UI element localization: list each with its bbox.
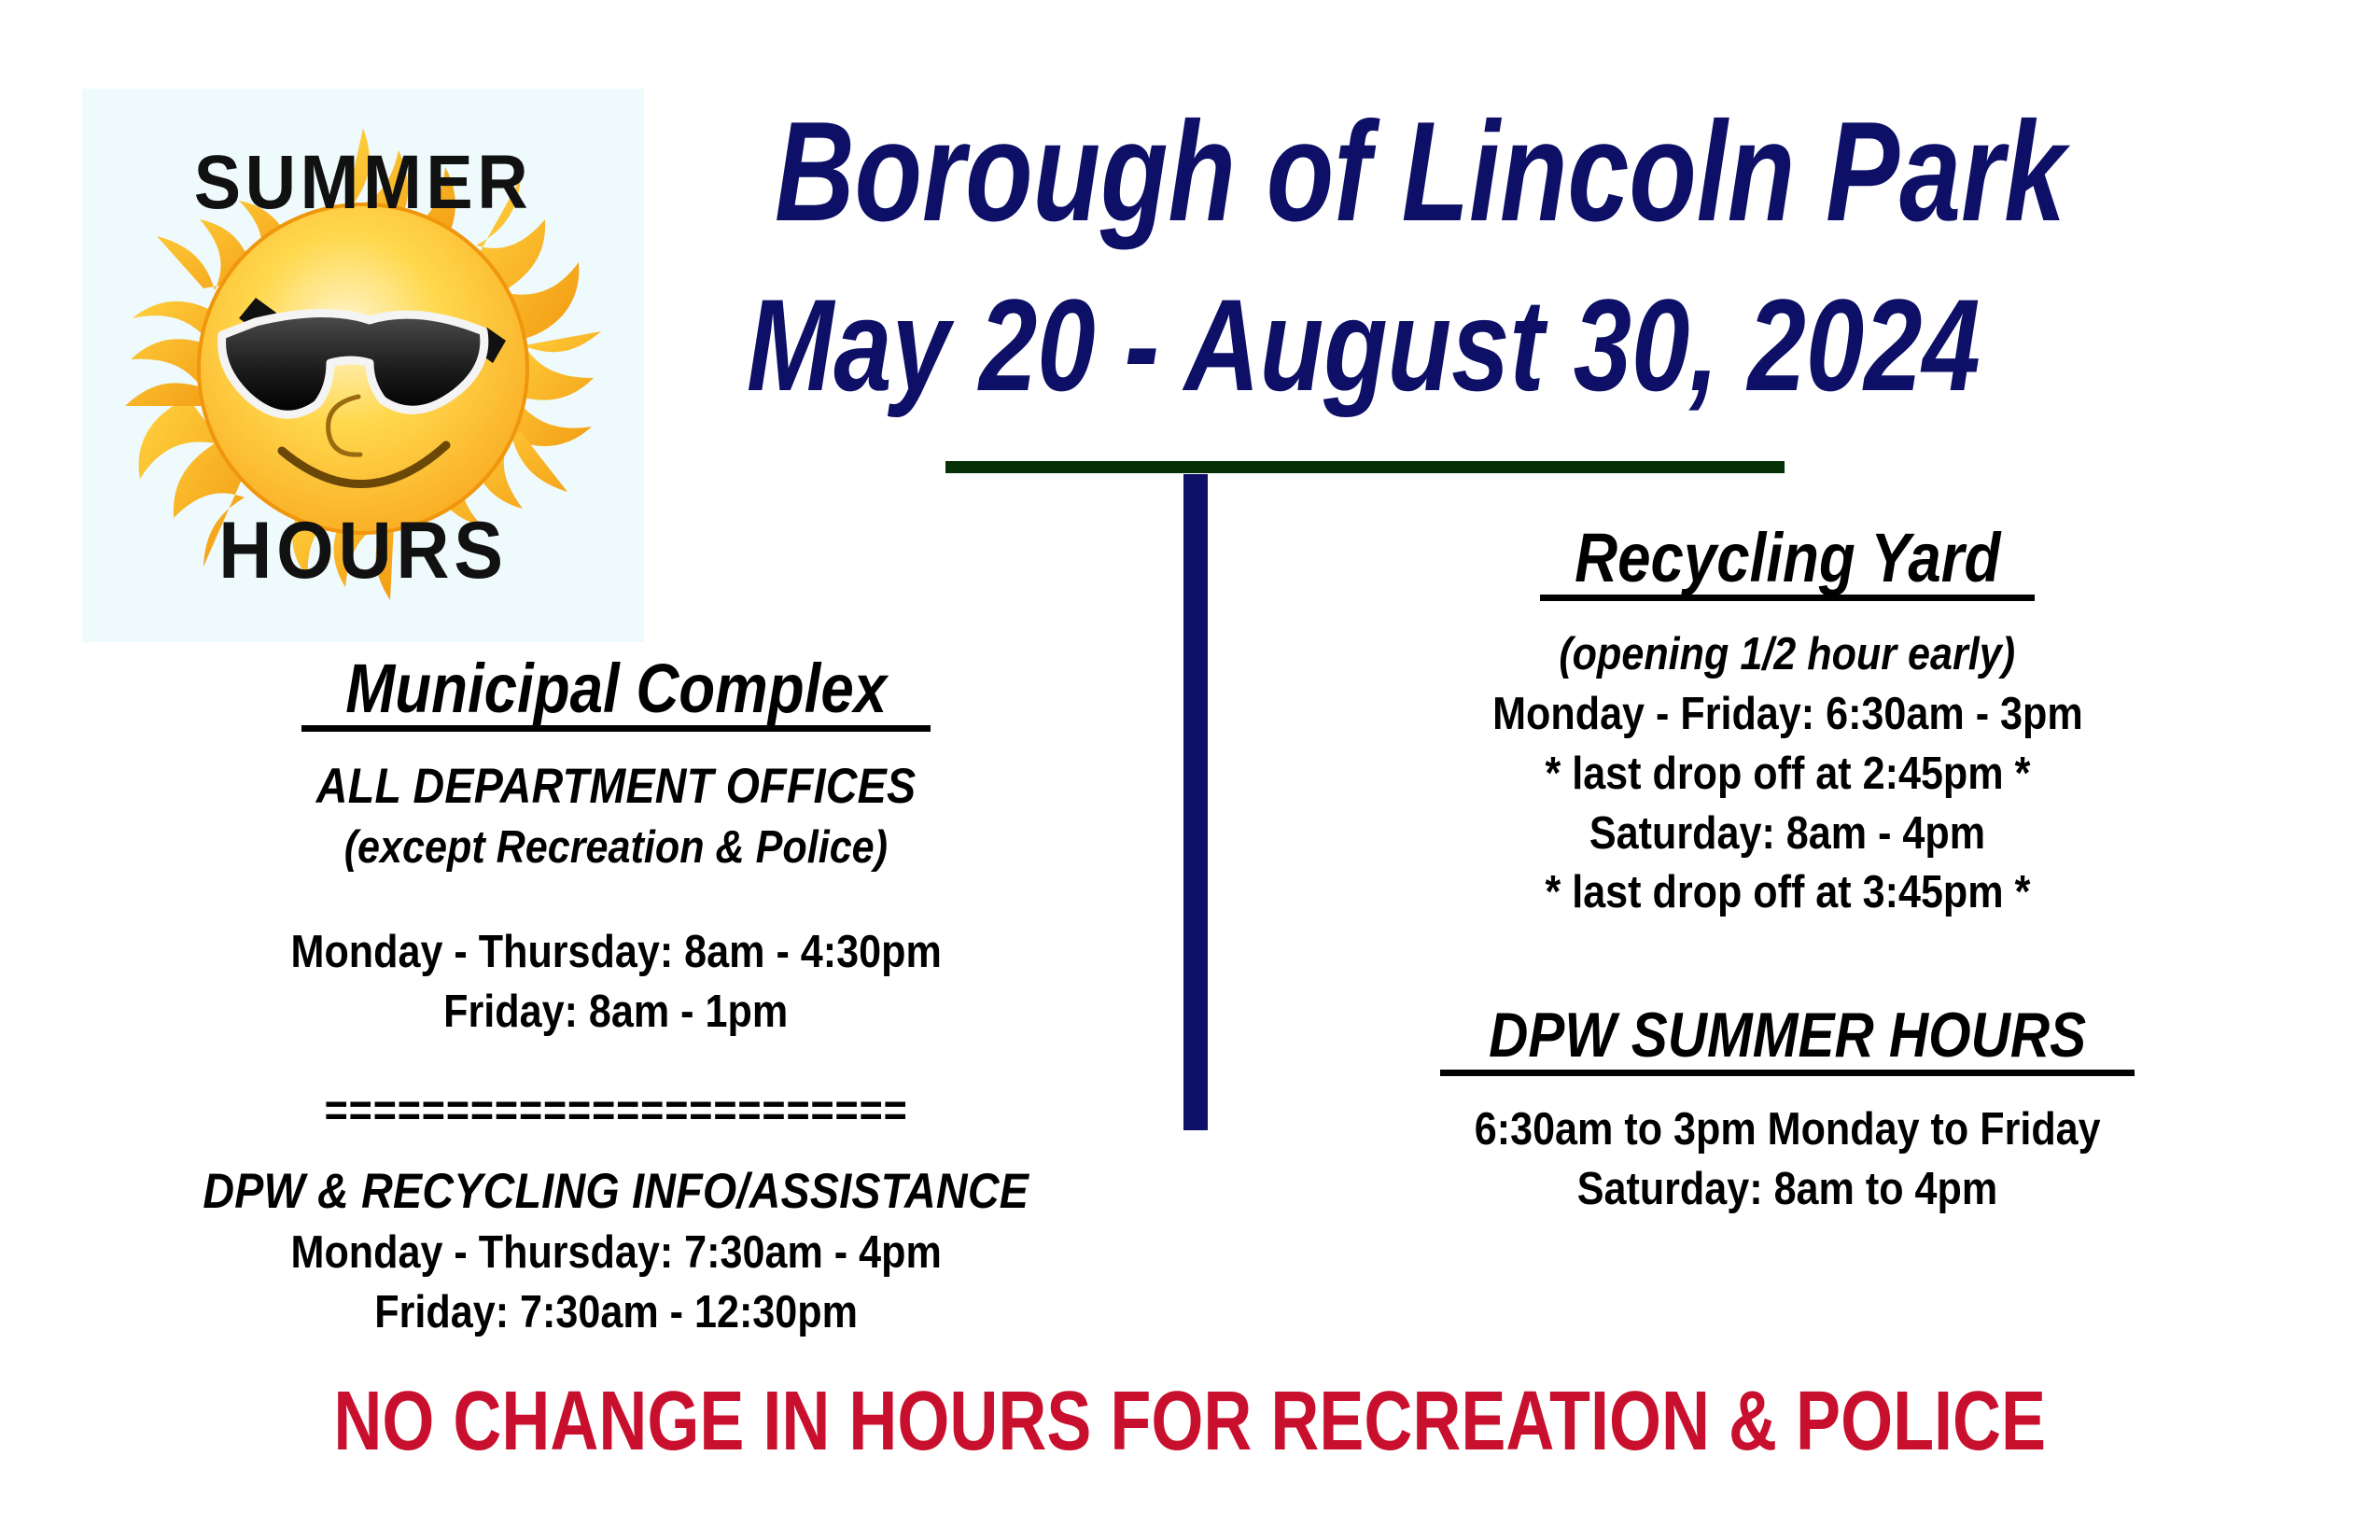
green-horizontal-rule: [945, 461, 1785, 473]
municipal-complex-heading-wrap: Municipal Complex: [121, 653, 1111, 732]
recycling-yard-hours-row: * last drop off at 2:45pm *: [1279, 745, 2296, 805]
sun-icon: [82, 89, 644, 642]
dpw-summer-hours-row: Saturday: 8am to 4pm: [1279, 1160, 2296, 1220]
recycling-yard-hours-row: Monday - Friday: 6:30am - 3pm: [1279, 685, 2296, 745]
municipal-hours-row: Friday: 8am - 1pm: [121, 983, 1111, 1043]
no-change-notice-text: NO CHANGE IN HOURS FOR RECREATION & POLI…: [334, 1379, 2047, 1463]
page-subtitle-dates: May 20 - August 30, 2024: [747, 280, 1981, 411]
except-recreation-police-note: (except Recreation & Police): [121, 819, 1111, 878]
recycling-and-dpw-section: Recycling Yard (opening 1/2 hour early) …: [1279, 523, 2296, 1220]
page-title: Borough of Lincoln Park: [775, 101, 2065, 243]
dpw-summer-hours-row: 6:30am to 3pm Monday to Friday: [1279, 1100, 2296, 1160]
recycling-yard-hours-row: Saturday: 8am - 4pm: [1279, 805, 2296, 864]
navy-vertical-divider: [1183, 474, 1208, 1130]
dpw-summer-hours-heading: DPW SUMMER HOURS: [1489, 1003, 2086, 1068]
dpw-summer-hours-heading-wrap: DPW SUMMER HOURS: [1279, 1003, 2296, 1076]
recycling-yard-note: (opening 1/2 hour early): [1279, 625, 2296, 685]
no-change-notice: NO CHANGE IN HOURS FOR RECREATION & POLI…: [0, 1379, 2380, 1463]
dpw-info-hours-row: Friday: 7:30am - 12:30pm: [121, 1283, 1111, 1343]
recycling-yard-heading-wrap: Recycling Yard: [1279, 523, 2296, 601]
recycling-yard-hours-row: * last drop off at 3:45pm *: [1279, 863, 2296, 923]
municipal-complex-heading: Municipal Complex: [345, 653, 887, 723]
dpw-recycling-info-heading: DPW & RECYCLING INFO/ASSISTANCE: [121, 1161, 1111, 1224]
equals-separator: ========================: [121, 1086, 1111, 1137]
all-department-offices-label: ALL DEPARTMENT OFFICES: [121, 756, 1111, 819]
dpw-info-hours-row: Monday - Thursday: 7:30am - 4pm: [121, 1224, 1111, 1283]
municipal-hours-row: Monday - Thursday: 8am - 4:30pm: [121, 923, 1111, 983]
recycling-yard-heading: Recycling Yard: [1575, 523, 2000, 593]
summer-hours-sun-logo: SUMMER HOURS: [82, 89, 644, 642]
municipal-complex-section: Municipal Complex ALL DEPARTMENT OFFICES…: [121, 653, 1111, 1342]
